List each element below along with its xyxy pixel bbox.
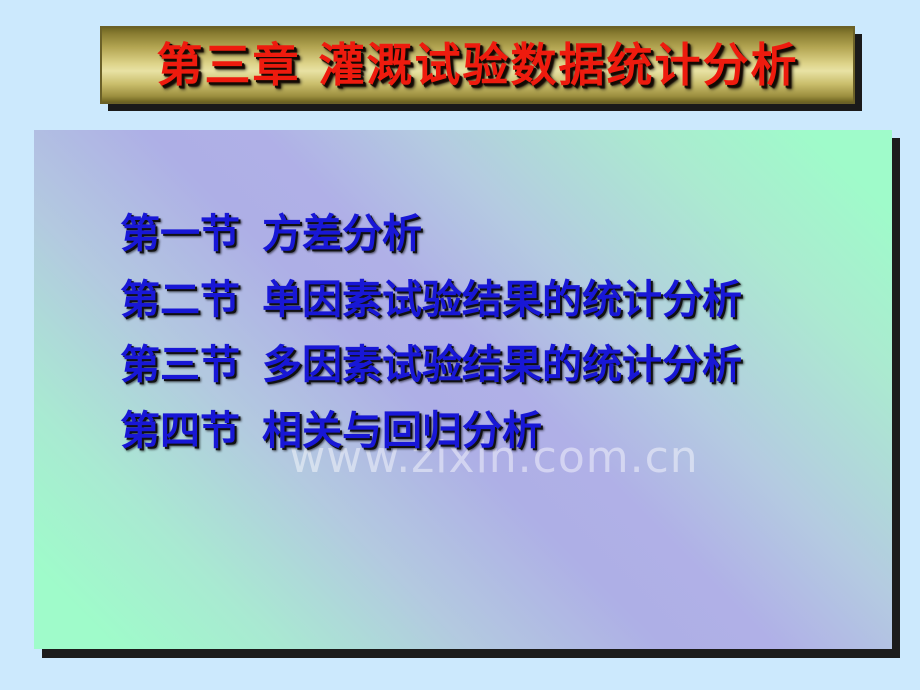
toc-section-title: 多因素试验结果的统计分析 [262,342,742,388]
toc-section-title: 相关与回归分析 [262,408,542,454]
list-item[interactable]: 第一节方差分析 [120,202,882,268]
toc-section-number: 第四节 [120,408,240,454]
content-panel: www.zixin.com.cn 第一节方差分析 第二节单因素试验结果的统计分析… [34,130,892,649]
toc-section-title: 方差分析 [262,211,422,257]
slide-canvas: 第三章 灌溉试验数据统计分析 www.zixin.com.cn 第一节方差分析 … [0,0,920,690]
toc-section-title: 单因素试验结果的统计分析 [262,277,742,323]
title-banner: 第三章 灌溉试验数据统计分析 [100,26,855,104]
slide-title: 第三章 灌溉试验数据统计分析 [156,42,798,88]
table-of-contents: 第一节方差分析 第二节单因素试验结果的统计分析 第三节多因素试验结果的统计分析 … [120,202,882,464]
toc-section-number: 第一节 [120,211,240,257]
toc-section-number: 第三节 [120,342,240,388]
toc-section-number: 第二节 [120,277,240,323]
list-item[interactable]: 第二节单因素试验结果的统计分析 [120,268,882,334]
list-item[interactable]: 第三节多因素试验结果的统计分析 [120,333,882,399]
list-item[interactable]: 第四节相关与回归分析 [120,399,882,465]
